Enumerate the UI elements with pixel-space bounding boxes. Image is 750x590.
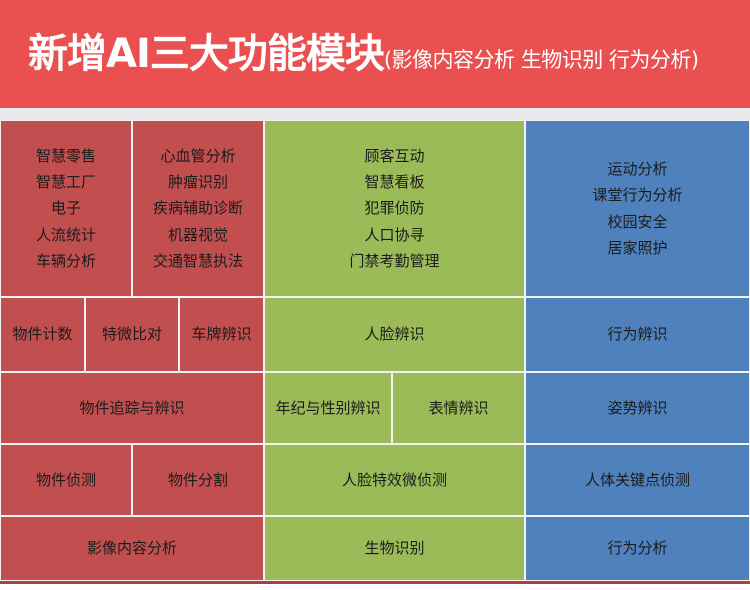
cell-object-detection[interactable]: 物件侦测: [0, 444, 132, 516]
cell-face-micro-detection[interactable]: 人脸特效微侦测: [264, 444, 525, 516]
cell-label: 智慧看板: [364, 169, 424, 195]
cell-biometric-identification[interactable]: 生物识别: [264, 516, 525, 581]
poster-page: 新增AI三大功能模块(影像内容分析 生物识别 行为分析) 智慧零售 智慧工厂 电…: [0, 0, 750, 590]
cell-body-keypoint-detection[interactable]: 人体关键点侦测: [525, 444, 750, 516]
header-banner: 新增AI三大功能模块(影像内容分析 生物识别 行为分析): [0, 0, 750, 108]
cell-object-segmentation[interactable]: 物件分割: [132, 444, 264, 516]
feature-grid: 智慧零售 智慧工厂 电子 人流统计 车辆分析 心血管分析 肿瘤识别 疾病辅助诊断…: [0, 120, 750, 581]
cell-label: 课堂行为分析: [592, 182, 682, 208]
header-divider: [0, 108, 750, 120]
cell-biometric-column[interactable]: 顾客互动 智慧看板 犯罪侦防 人口协寻 门禁考勤管理: [264, 120, 525, 297]
cell-label: 犯罪侦防: [364, 195, 424, 221]
cell-label: 运动分析: [607, 156, 667, 182]
cell-label: 电子: [51, 195, 81, 221]
cell-medical-column[interactable]: 心血管分析 肿瘤识别 疾病辅助诊断 机器视觉 交通智慧执法: [132, 120, 264, 297]
cell-behavior-column[interactable]: 运动分析 课堂行为分析 校园安全 居家照护: [525, 120, 750, 297]
cell-retail-column[interactable]: 智慧零售 智慧工厂 电子 人流统计 车辆分析: [0, 120, 132, 297]
cell-label: 人口协寻: [364, 222, 424, 248]
cell-expression-recognition[interactable]: 表情辨识: [392, 372, 525, 444]
cell-label: 疾病辅助诊断: [153, 195, 243, 221]
cell-video-content-analysis[interactable]: 影像内容分析: [0, 516, 264, 581]
cell-label: 智慧零售: [36, 143, 96, 169]
cell-label: 门禁考勤管理: [349, 248, 439, 274]
bottom-fill: [0, 584, 750, 590]
cell-age-gender-recognition[interactable]: 年纪与性别辨识: [264, 372, 392, 444]
cell-label: 交通智慧执法: [153, 248, 243, 274]
page-subtitle: (影像内容分析 生物识别 行为分析): [384, 50, 699, 71]
cell-label: 心血管分析: [160, 143, 235, 169]
cell-label: 校园安全: [607, 209, 667, 235]
cell-label: 机器视觉: [168, 222, 228, 248]
cell-object-count[interactable]: 物件计数: [0, 297, 85, 372]
cell-label: 人流统计: [36, 222, 96, 248]
cell-label: 车辆分析: [36, 248, 96, 274]
cell-behavior-analysis[interactable]: 行为分析: [525, 516, 750, 581]
cell-feature-compare[interactable]: 特微比对: [85, 297, 179, 372]
cell-label: 智慧工厂: [36, 169, 96, 195]
page-title: 新增AI三大功能模块: [28, 34, 384, 74]
cell-pose-recognition[interactable]: 姿势辨识: [525, 372, 750, 444]
cell-object-tracking[interactable]: 物件追踪与辨识: [0, 372, 264, 444]
header-title-group: 新增AI三大功能模块(影像内容分析 生物识别 行为分析): [0, 34, 699, 74]
cell-label: 顾客互动: [364, 143, 424, 169]
cell-plate-recognition[interactable]: 车牌辨识: [179, 297, 264, 372]
cell-label: 居家照护: [607, 235, 667, 261]
cell-face-recognition[interactable]: 人脸辨识: [264, 297, 525, 372]
cell-behavior-recognition[interactable]: 行为辨识: [525, 297, 750, 372]
cell-label: 肿瘤识别: [168, 169, 228, 195]
